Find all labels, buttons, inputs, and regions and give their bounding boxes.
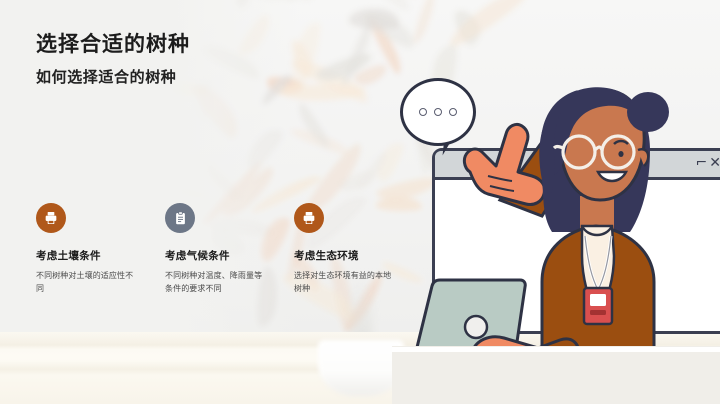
feature-title: 考虑气候条件	[165, 250, 269, 263]
feature-item-climate: 考虑气候条件 不同树种对温度、降雨量等条件的要求不同	[165, 203, 269, 296]
page-subtitle: 如何选择适合的树种	[36, 66, 176, 87]
desk-edge-highlight	[392, 347, 720, 352]
feature-description: 不同树种对土壤的适应性不同	[36, 269, 140, 295]
feature-item-ecology: 考虑生态环境 选择对生态环境有益的本地树种	[294, 203, 398, 296]
character-illustration	[392, 0, 720, 404]
feature-list: 考虑土壤条件 不同树种对土壤的适应性不同 考虑气候条件 不同树种对温度、降雨量等…	[36, 203, 398, 296]
feature-description: 选择对生态环境有益的本地树种	[294, 269, 398, 295]
printer-icon	[294, 203, 324, 233]
printer-icon	[36, 203, 66, 233]
slide-canvas: 选择合适的树种 如何选择适合的树种 考虑土壤条件 不同树种对土壤的适应性不同	[0, 0, 720, 404]
feature-item-soil: 考虑土壤条件 不同树种对土壤的适应性不同	[36, 203, 140, 296]
bubble-dot	[419, 108, 427, 116]
eye	[618, 151, 623, 157]
illustration: ⌐✕	[392, 0, 720, 404]
page-title: 选择合适的树种	[36, 28, 190, 58]
feature-title: 考虑土壤条件	[36, 250, 140, 263]
bubble-dot	[434, 108, 442, 116]
leaf	[296, 0, 346, 3]
clipboard-icon	[165, 203, 195, 233]
feature-title: 考虑生态环境	[294, 250, 398, 263]
speech-bubble	[400, 78, 476, 146]
hair-bun	[627, 92, 669, 132]
desk-surface	[392, 346, 720, 404]
laptop-logo	[465, 316, 487, 338]
bubble-dot	[449, 108, 457, 116]
feature-description: 不同树种对温度、降雨量等条件的要求不同	[165, 269, 269, 295]
